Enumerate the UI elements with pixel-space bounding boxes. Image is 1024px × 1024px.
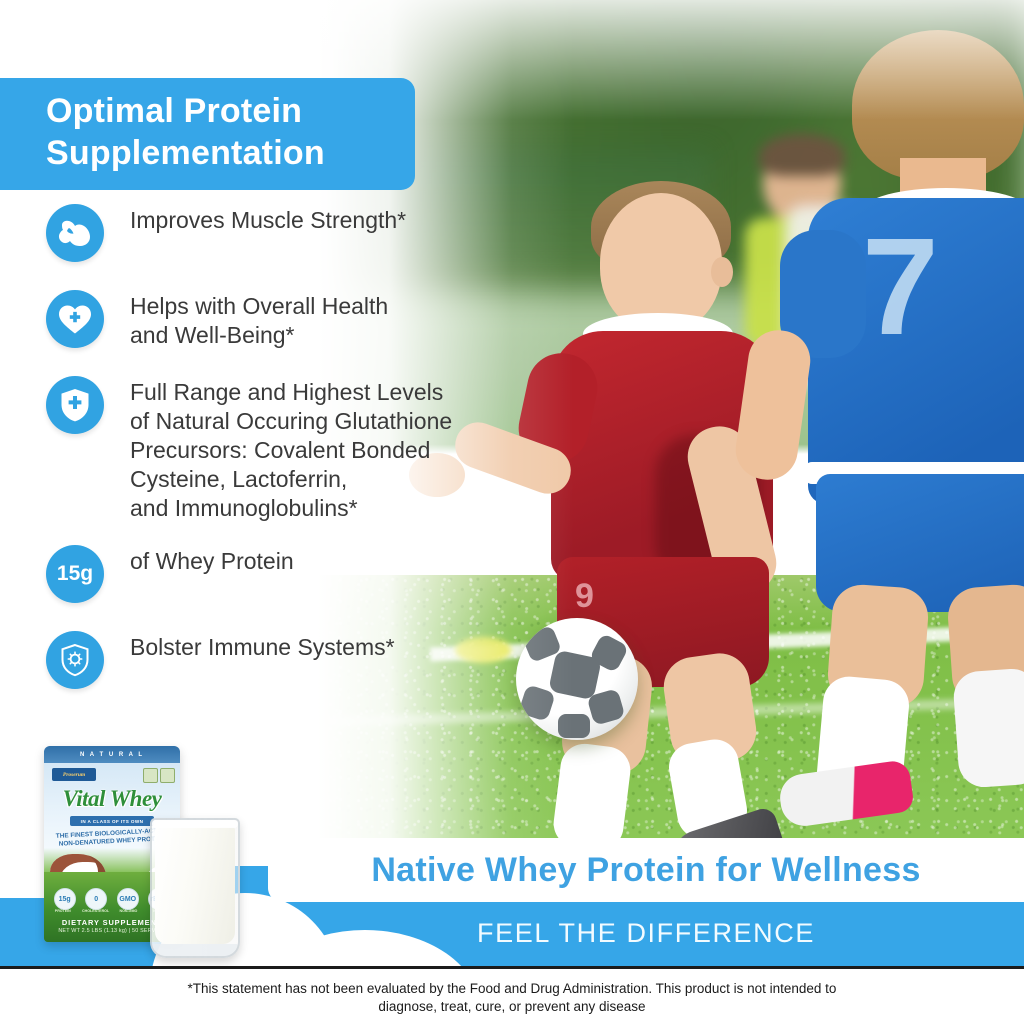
- header-title-line1: Optimal Protein: [46, 90, 395, 132]
- pouch-natural-text: N A T U R A L: [80, 752, 144, 758]
- benefit-item-protein-amount: 15g of Whey Protein: [46, 545, 516, 603]
- glass-base: [152, 944, 238, 956]
- benefit-label-overall-health: Helps with Overall Health and Well-Being…: [130, 290, 388, 350]
- benefits-list: Improves Muscle Strength* Helps with Ove…: [46, 204, 516, 713]
- benefit-item-overall-health: Helps with Overall Health and Well-Being…: [46, 290, 516, 350]
- benefit-item-immune-system: Bolster Immune Systems*: [46, 631, 516, 689]
- seal-icon: [143, 768, 158, 783]
- footer-disclaimer-bar: *This statement has not been evaluated b…: [0, 966, 1024, 1024]
- pouch-badge-caption: NON-GMO: [114, 909, 142, 913]
- header-title-line2: Supplementation: [46, 132, 395, 174]
- glass-rim: [152, 820, 238, 828]
- muscle-arm-icon: [46, 204, 104, 262]
- shield-plus-icon: [46, 376, 104, 434]
- pouch-tagline-strip: IN A CLASS OF ITS OWN: [70, 816, 154, 826]
- pouch-product-name: Vital Whey: [44, 786, 180, 812]
- milk-fill: [155, 827, 235, 944]
- pouch-badge: 15g: [54, 888, 76, 910]
- benefit-label-muscle-strength: Improves Muscle Strength*: [130, 204, 406, 235]
- pouch-brand-logo: Proserum: [52, 768, 96, 781]
- pouch-certification-seals: [143, 768, 175, 783]
- benefit-label-glutathione-precursors: Full Range and Highest Levels of Natural…: [130, 376, 452, 523]
- protein-amount-badge: 15g: [46, 545, 104, 603]
- pouch-badge: 0: [85, 888, 107, 910]
- benefit-item-muscle-strength: Improves Muscle Strength*: [46, 204, 516, 262]
- pouch-badge: GMO: [117, 888, 139, 910]
- pouch-top-strip: N A T U R A L: [44, 746, 180, 763]
- product-shot: N A T U R A L Proserum Vital Whey IN A C…: [38, 742, 253, 960]
- pouch-brand-text: Proserum: [63, 772, 85, 778]
- footer-disclaimer-text: *This statement has not been evaluated b…: [188, 980, 837, 1016]
- milk-glass: [150, 818, 240, 958]
- banner-headline: Native Whey Protein for Wellness: [371, 851, 920, 890]
- pouch-badge-caption: CHOLESTEROL: [82, 909, 110, 913]
- benefit-label-protein-amount: of Whey Protein: [130, 545, 294, 576]
- pouch-badge-caption: PROTEIN: [49, 909, 77, 913]
- benefit-label-immune-system: Bolster Immune Systems*: [130, 631, 395, 662]
- protein-amount-text: 15g: [46, 545, 104, 603]
- pouch-tagline-text: IN A CLASS OF ITS OWN: [81, 819, 144, 824]
- header-banner: Optimal Protein Supplementation: [0, 78, 415, 190]
- benefit-item-glutathione-precursors: Full Range and Highest Levels of Natural…: [46, 376, 516, 523]
- headline-white-box: Native Whey Protein for Wellness: [268, 838, 1024, 902]
- advertisement-canvas: 9 7: [0, 0, 1024, 1024]
- shield-virus-icon: [46, 631, 104, 689]
- seal-icon: [160, 768, 175, 783]
- heart-plus-icon: [46, 290, 104, 348]
